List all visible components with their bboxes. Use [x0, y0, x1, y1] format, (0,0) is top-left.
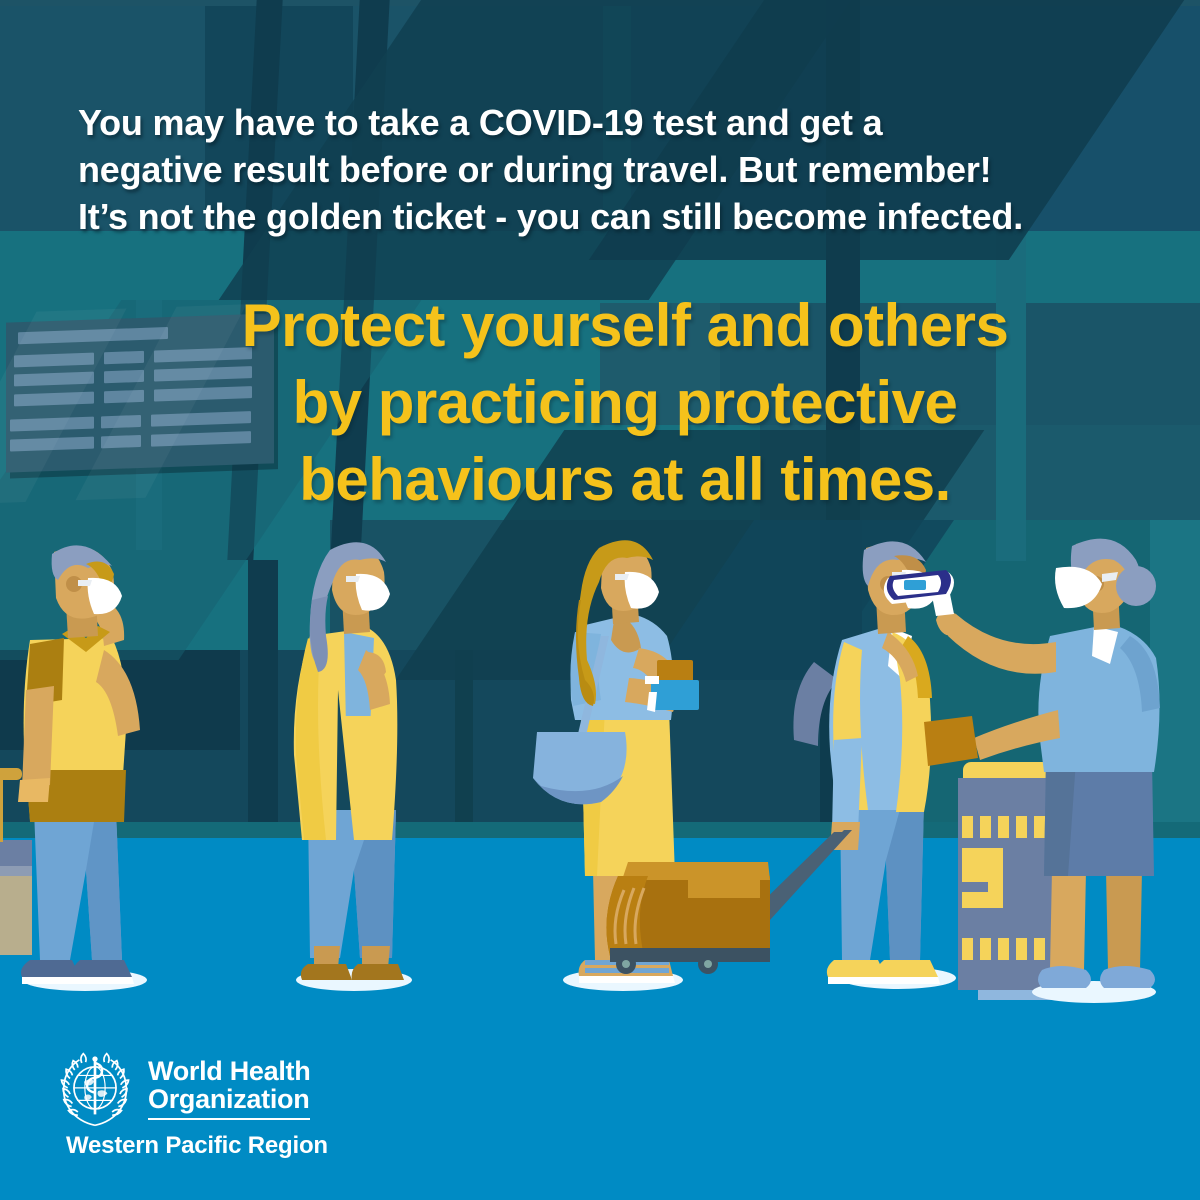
figure-shoe: [73, 960, 132, 977]
who-region-label: Western Pacific Region: [66, 1132, 328, 1160]
travel-document: [924, 716, 978, 766]
headline-text: You may have to take a COVID-19 test and…: [78, 100, 1138, 240]
face-mask: [88, 578, 122, 614]
main-message-line-2: by practicing protective: [160, 365, 1090, 442]
who-travel-infographic: You may have to take a COVID-19 test and…: [0, 0, 1200, 1200]
figure-shoe: [1038, 966, 1091, 988]
face-mask: [356, 574, 390, 611]
figure-shoe: [827, 960, 886, 977]
figure-arm: [22, 686, 54, 788]
thermometer-grip: [932, 594, 954, 616]
face-mask: [625, 572, 659, 609]
figure-leg: [1106, 870, 1142, 970]
suitcase-wheel-hub: [622, 960, 630, 968]
asclepius-head: [92, 1056, 97, 1061]
boarding-pass: [651, 680, 699, 710]
sandal-strap: [629, 968, 669, 973]
mask-strap: [346, 576, 360, 582]
figure-shoe: [21, 960, 80, 977]
who-name-line-1: World Health: [148, 1058, 310, 1086]
mask-strap: [78, 580, 92, 586]
board-row: [104, 351, 144, 364]
who-wordmark: World Health Organization: [148, 1052, 310, 1123]
figure-shoe: [1100, 966, 1155, 988]
suitcase-handle: [762, 830, 852, 920]
figure-sleeve-lower: [832, 738, 862, 832]
who-emblem-icon: [56, 1052, 134, 1130]
figure-shoe: [877, 960, 938, 977]
headline-line-2: negative result before or during travel.…: [78, 147, 1138, 194]
boarding-pass-edge: [645, 676, 659, 684]
figure-shoe-sole: [22, 977, 82, 984]
thermometer-display: [904, 580, 926, 590]
rolling-suitcase: [606, 862, 770, 974]
figure-leg: [1050, 870, 1086, 970]
figure-shoe: [352, 964, 404, 980]
mask-strap: [615, 574, 629, 580]
kiosk-graphic: [962, 848, 1003, 908]
sandal-sole: [623, 976, 675, 983]
figure-shoe: [301, 964, 352, 980]
figure-traveller-1: [0, 545, 147, 991]
figure-shoe-sole: [74, 977, 134, 984]
who-logo-rule: [148, 1118, 310, 1120]
figure-arm-raised: [948, 614, 1056, 674]
main-message-line-3: behaviours at all times.: [160, 442, 1090, 519]
suitcase-wheel-hub: [704, 960, 712, 968]
figure-hair-bun: [1116, 566, 1156, 606]
headline-line-1: You may have to take a COVID-19 test and…: [78, 100, 1138, 147]
figure-traveller-2: [294, 542, 412, 991]
figure-belt: [344, 716, 374, 736]
figure-shoe-sole: [878, 977, 940, 984]
who-logo: World Health Organization Western Pacifi…: [56, 1052, 328, 1160]
suitcase-pocket: [688, 876, 760, 898]
main-message: Protect yourself and others by practicin…: [160, 288, 1090, 518]
who-name-line-2: Organization: [148, 1086, 310, 1114]
main-message-line-1: Protect yourself and others: [160, 288, 1090, 365]
headline-line-3: It’s not the golden ticket - you can sti…: [78, 194, 1138, 241]
figure-hand: [18, 778, 50, 802]
